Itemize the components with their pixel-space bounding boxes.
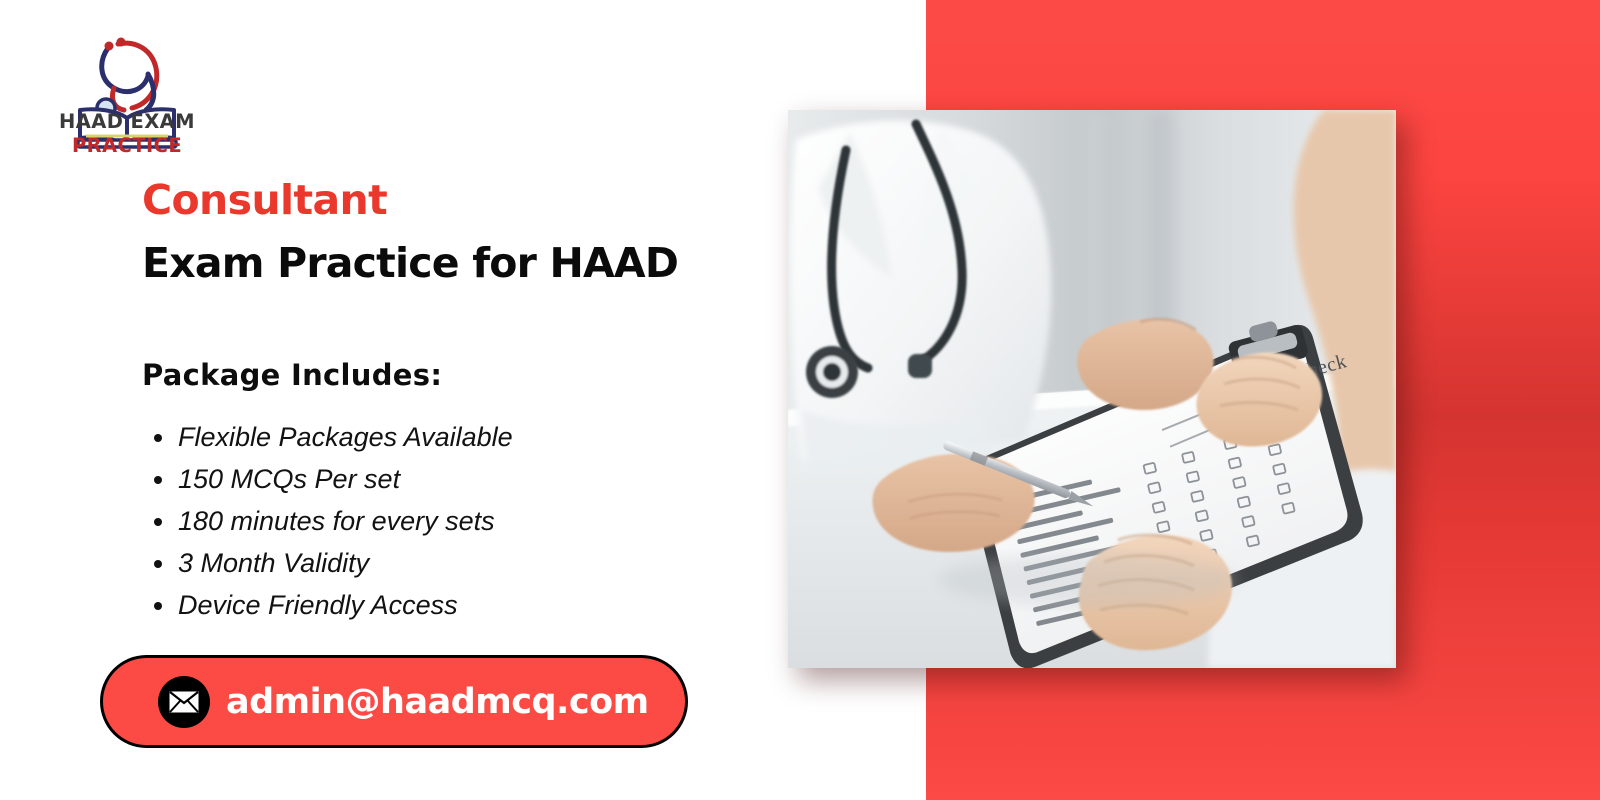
page-title: Exam Practice for HAAD: [142, 243, 842, 284]
list-item: 150 MCQs Per set: [178, 458, 842, 500]
doctor-patient-photo: Health Check: [788, 110, 1396, 668]
package-includes-heading: Package Includes:: [142, 358, 842, 392]
logo-wordmark-line1: HAAD EXAM: [52, 110, 202, 133]
package-feature-list: Flexible Packages Available 150 MCQs Per…: [142, 416, 842, 626]
list-item: Device Friendly Access: [178, 584, 842, 626]
list-item: 180 minutes for every sets: [178, 500, 842, 542]
brand-logo[interactable]: HAAD EXAM PRACTICE: [52, 22, 202, 162]
promo-banner: Health Check: [0, 0, 1600, 800]
email-address: admin@haadmcq.com: [226, 682, 649, 722]
email-cta-button[interactable]: admin@haadmcq.com: [100, 655, 688, 748]
list-item: 3 Month Validity: [178, 542, 842, 584]
logo-wordmark-line2: PRACTICE: [52, 134, 202, 157]
kicker-heading: Consultant: [142, 180, 842, 221]
text-column: Consultant Exam Practice for HAAD Packag…: [142, 180, 842, 626]
photo-image: Health Check: [788, 110, 1396, 668]
list-item: Flexible Packages Available: [178, 416, 842, 458]
envelope-icon: [158, 676, 210, 728]
